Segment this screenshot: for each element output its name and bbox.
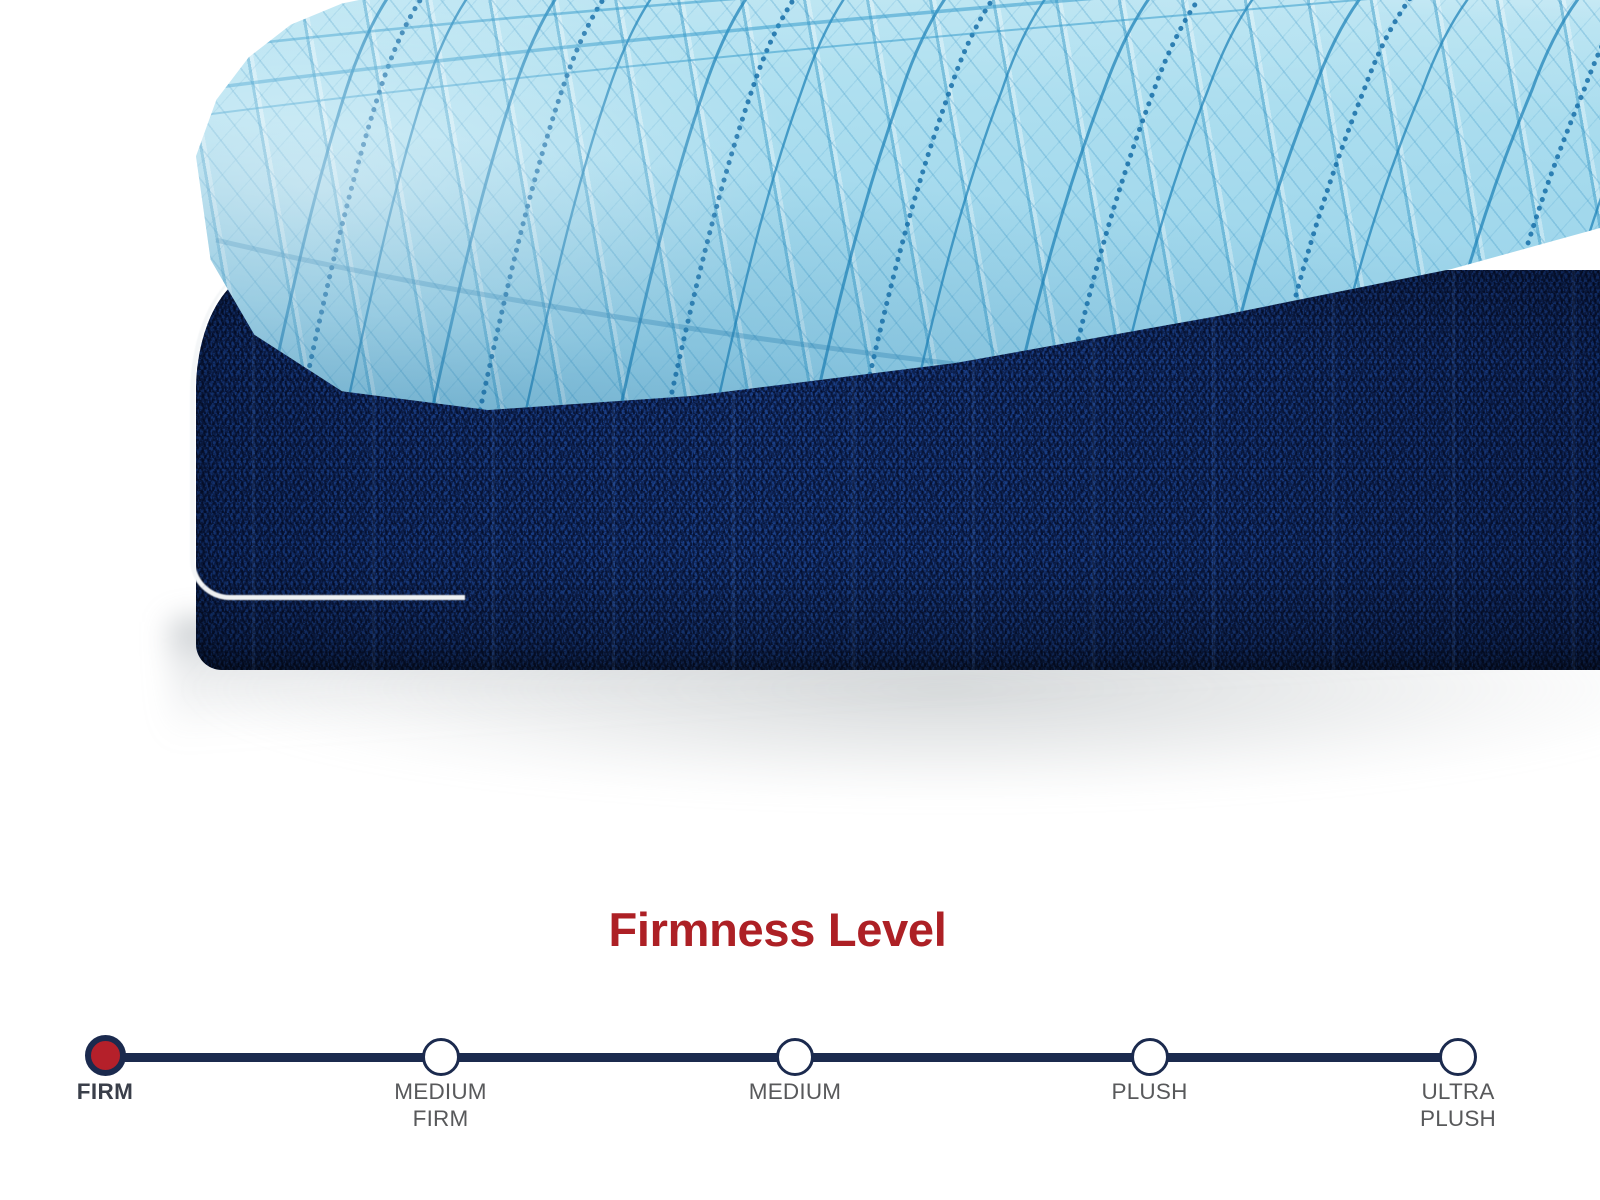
firmness-label-plush: PLUSH — [1030, 1078, 1270, 1105]
mattress-body — [196, 0, 1600, 700]
firmness-level-title: Firmness Level — [0, 902, 1555, 957]
product-firmness-panel: Firmness Level FIRMMEDIUM FIRMMEDIUMPLUS… — [0, 0, 1600, 1200]
firmness-label-ultra-plush: ULTRA PLUSH — [1338, 1078, 1578, 1132]
firmness-level-section: Firmness Level FIRMMEDIUM FIRMMEDIUMPLUS… — [0, 880, 1600, 1200]
firmness-stop-firm[interactable] — [85, 1035, 126, 1076]
firmness-label-medium-firm: MEDIUM FIRM — [321, 1078, 561, 1132]
firmness-stop-medium-firm[interactable] — [422, 1038, 460, 1076]
firmness-scale[interactable]: FIRMMEDIUM FIRMMEDIUMPLUSHULTRA PLUSH — [0, 1030, 1600, 1200]
firmness-label-firm: FIRM — [0, 1078, 225, 1105]
firmness-scale-track[interactable] — [105, 1053, 1458, 1062]
firmness-label-medium: MEDIUM — [675, 1078, 915, 1105]
firmness-stop-ultra-plush[interactable] — [1439, 1038, 1477, 1076]
firmness-stop-plush[interactable] — [1131, 1038, 1169, 1076]
mattress-product-image — [0, 0, 1600, 880]
firmness-stop-medium[interactable] — [776, 1038, 814, 1076]
